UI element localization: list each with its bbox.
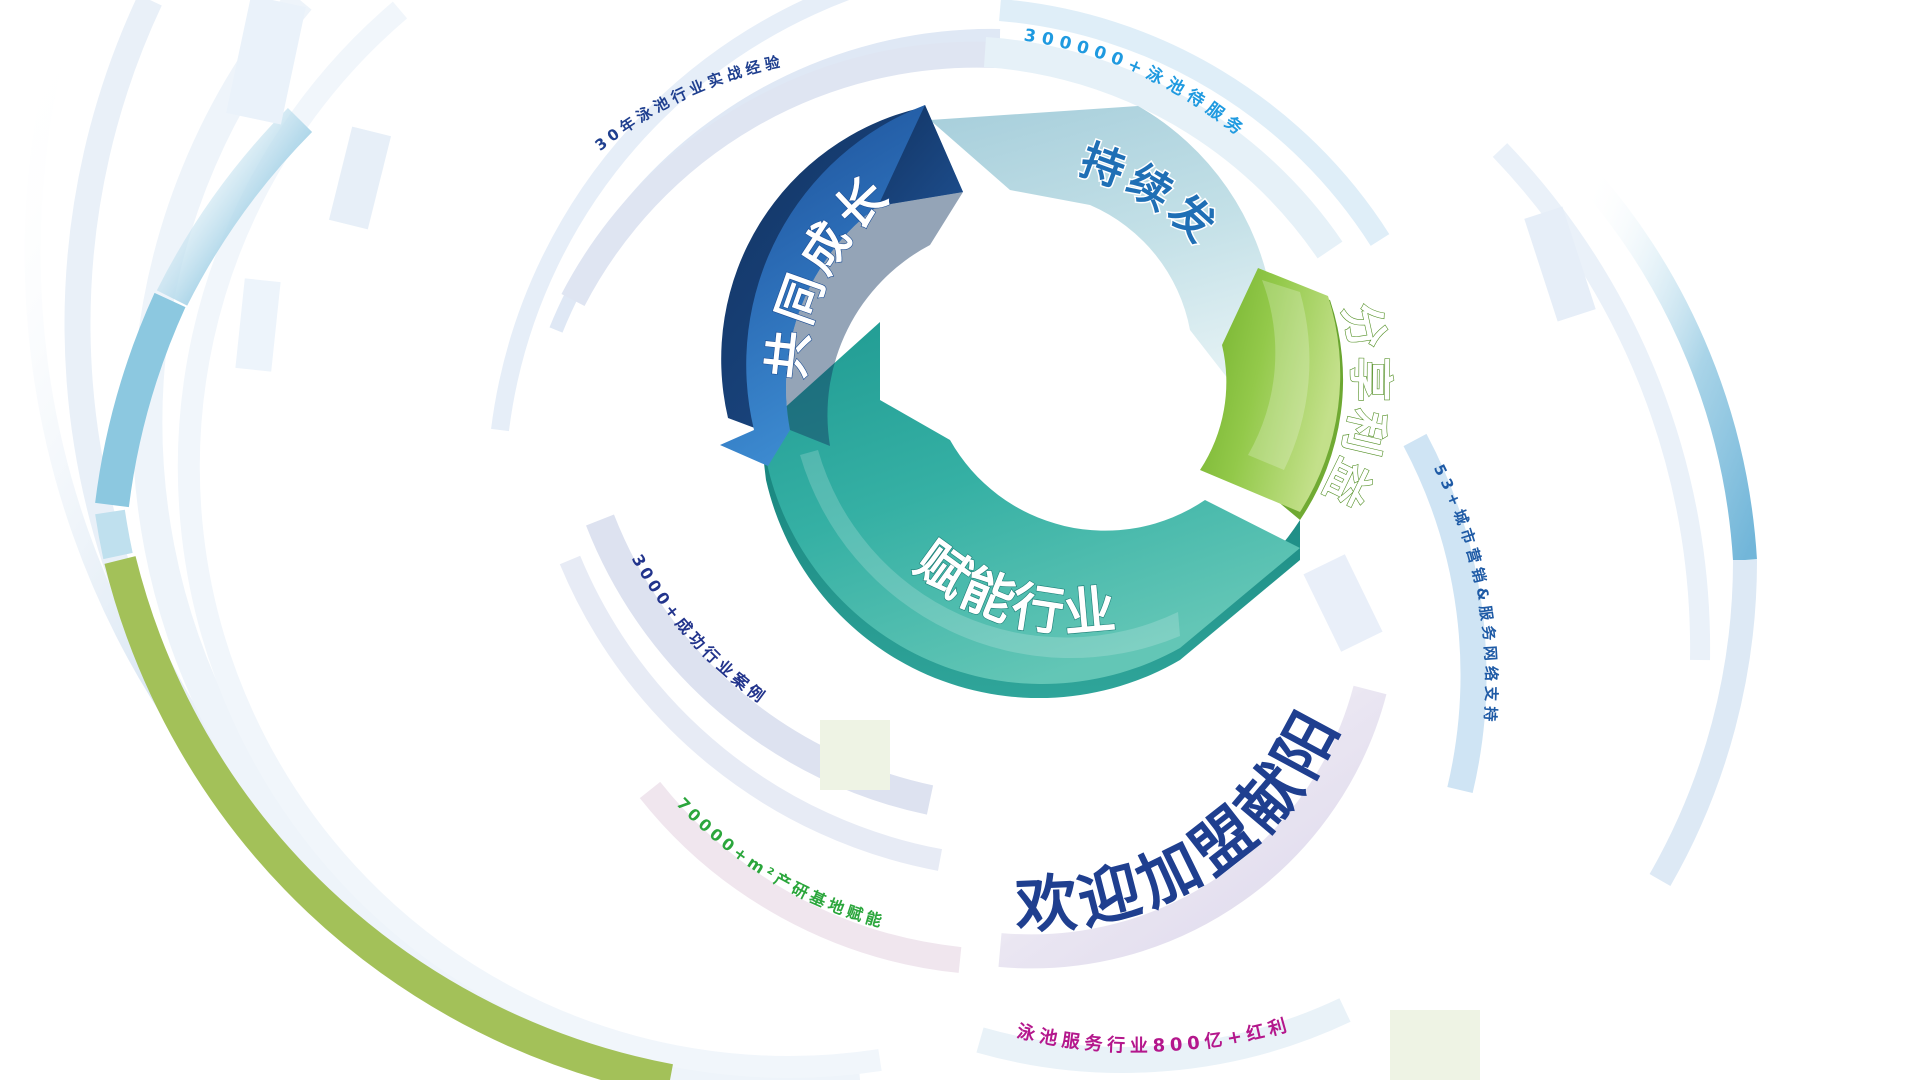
infographic-svg: 持续发展 分享利益 赋能行业 共: [0, 0, 1920, 1080]
tile-accent-6: [1390, 1010, 1480, 1080]
infographic-canvas: 持续发展 分享利益 赋能行业 共: [0, 0, 1920, 1080]
arc-sky-small: [110, 512, 118, 556]
tile-accent-3: [329, 127, 391, 230]
arc-right-blue: [1590, 180, 1745, 560]
segment-empower[interactable]: 赋能行业: [760, 322, 1300, 698]
arc-outer-ice-2: [77, 0, 760, 1080]
tile-accent-5: [820, 720, 890, 790]
tile-accent-2: [226, 0, 306, 125]
tile-accent-7: [1303, 554, 1382, 651]
tile-accent-4: [235, 278, 280, 371]
